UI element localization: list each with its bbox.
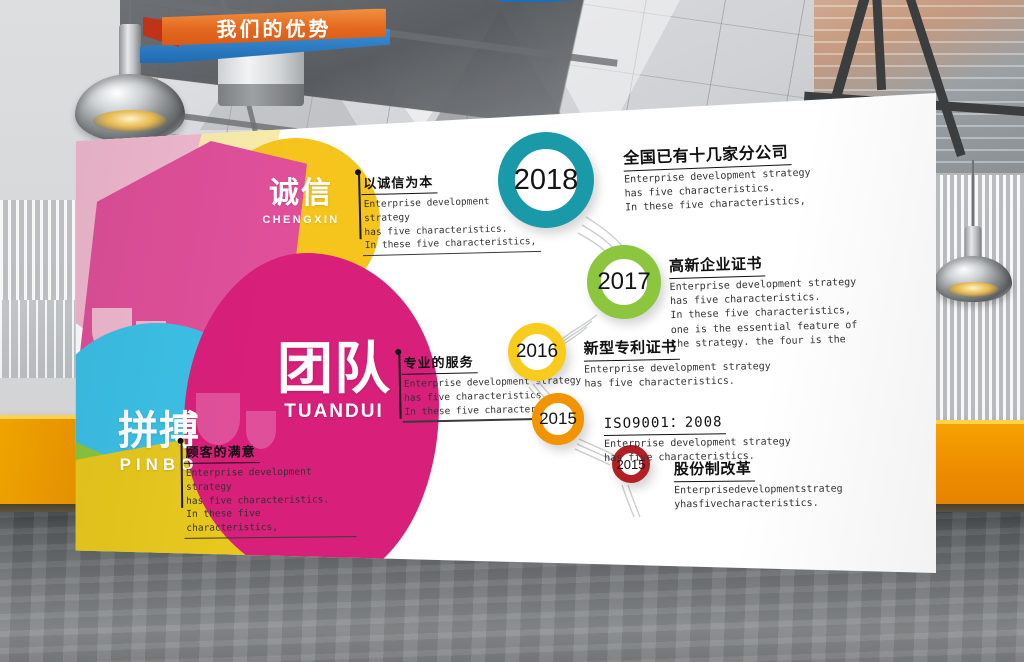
timeline-ring-2018[interactable]: 2018 xyxy=(498,132,594,228)
timeline-entry-title: 股份制改革 xyxy=(674,457,755,482)
timeline-year: 2018 xyxy=(514,164,579,197)
timeline-entry-body: Enterprise development strategy has five… xyxy=(584,358,854,392)
timeline-entry-body: Enterprisedevelopmentstrateg yhasfivecha… xyxy=(674,482,924,513)
banner-our-advantages: 我们的优势 xyxy=(140,5,400,67)
timeline-entry-title: 全国已有十几家分公司 xyxy=(623,138,792,171)
timeline-entry-reform: 股份制改革 Enterprisedevelopmentstrateg yhasf… xyxy=(674,456,925,513)
timeline-entry-2018: 全国已有十几家分公司 Enterprise development strate… xyxy=(623,133,916,216)
lamp-glow xyxy=(93,110,167,132)
timeline-ring-2015-iso[interactable]: 2015 xyxy=(532,393,584,445)
culture-wall-board: 诚信 CHENGXIN 团队 TUANDUI 拼搏 PINBO 以诚信为本 En… xyxy=(74,93,936,593)
timeline-entry-title: 高新企业证书 xyxy=(669,252,766,279)
lamp-glow xyxy=(947,282,999,297)
timeline-entry-title: ISO9001：2008 xyxy=(604,411,726,436)
timeline-year: 2015 xyxy=(539,409,577,429)
company-timeline: 2018 2017 2016 2015 2015 全国已有十几家分公司 Ente… xyxy=(74,93,936,593)
timeline-year: 2016 xyxy=(516,341,558,363)
timeline-entry-title: 新型专利证书 xyxy=(584,336,680,362)
photo-scene: 诚信 CHENGXIN 团队 TUANDUI 拼搏 PINBO 以诚信为本 En… xyxy=(0,0,1024,662)
timeline-entry-2016: 新型专利证书 Enterprise development strategy h… xyxy=(584,332,855,392)
timeline-ring-2016[interactable]: 2016 xyxy=(508,323,566,381)
timeline-ring-2017[interactable]: 2017 xyxy=(587,245,661,319)
banner-company-history: 企业发展历程 xyxy=(500,0,880,20)
banner-blue-tail xyxy=(500,0,872,2)
pendant-lamp xyxy=(930,160,1016,310)
lamp-cord xyxy=(972,160,974,232)
timeline-year: 2017 xyxy=(597,268,650,296)
